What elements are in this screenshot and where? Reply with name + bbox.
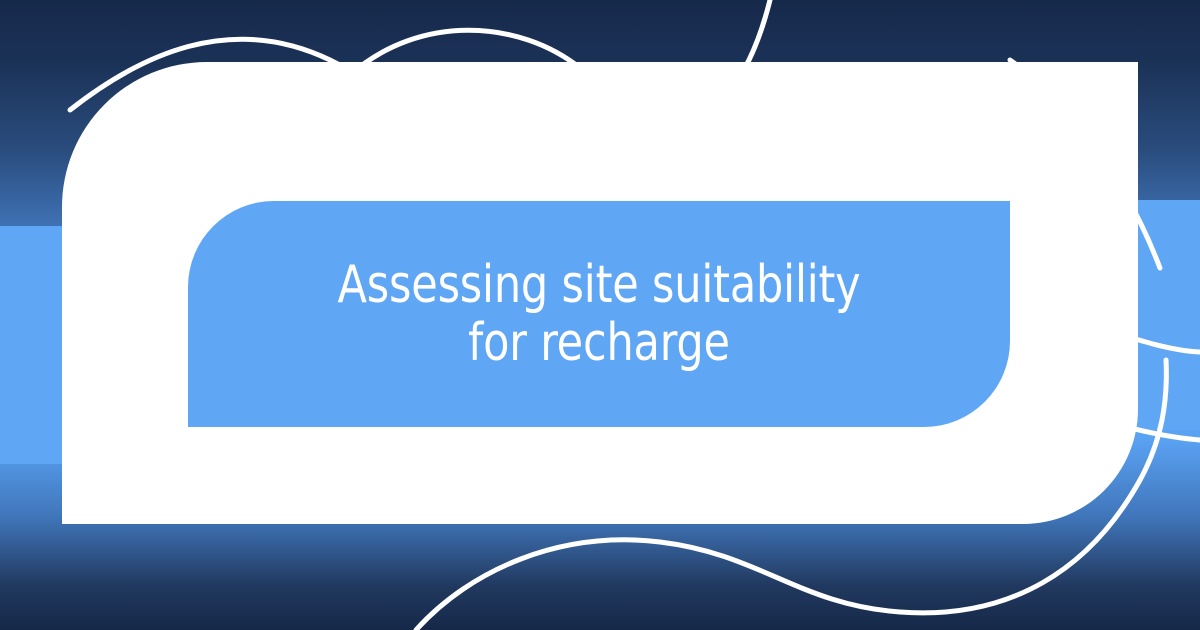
page-title: Assessing site suitability for recharge (305, 256, 894, 372)
background-band-right-lower (1134, 364, 1200, 430)
background-band-left-upper (0, 226, 70, 340)
title-panel: Assessing site suitability for recharge (188, 201, 1010, 427)
background-band-right-upper (1134, 200, 1200, 340)
background-band-left-lower (0, 364, 70, 464)
slide-canvas: Assessing site suitability for recharge (0, 0, 1200, 630)
